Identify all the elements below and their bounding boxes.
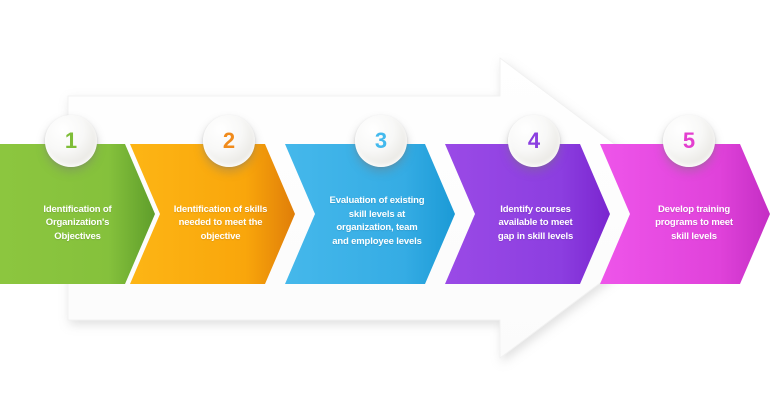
step-badge-1-number: 1 — [65, 130, 77, 152]
step-4-label: Identify courses available to meet gap i… — [466, 203, 605, 244]
step-badge-5[interactable]: 5 — [663, 115, 715, 167]
process-step-2[interactable]: Identification of skills needed to meet … — [130, 144, 295, 284]
step-badge-2-number: 2 — [223, 130, 235, 152]
step-3-label: Evaluation of existing skill levels at o… — [306, 194, 449, 248]
step-badge-4[interactable]: 4 — [508, 115, 560, 167]
step-5-label: Develop training programs to meet skill … — [623, 203, 766, 244]
step-2-label: Identification of skills needed to meet … — [151, 203, 290, 244]
step-badge-4-number: 4 — [528, 130, 540, 152]
step-badge-3[interactable]: 3 — [355, 115, 407, 167]
step-badge-2[interactable]: 2 — [203, 115, 255, 167]
step-1-label: Identification of Organization's Objecti… — [12, 203, 142, 244]
step-badge-3-number: 3 — [375, 130, 387, 152]
step-badge-1[interactable]: 1 — [45, 115, 97, 167]
infographic-canvas: Identification of Organization's Objecti… — [0, 0, 770, 420]
step-badge-5-number: 5 — [683, 130, 695, 152]
